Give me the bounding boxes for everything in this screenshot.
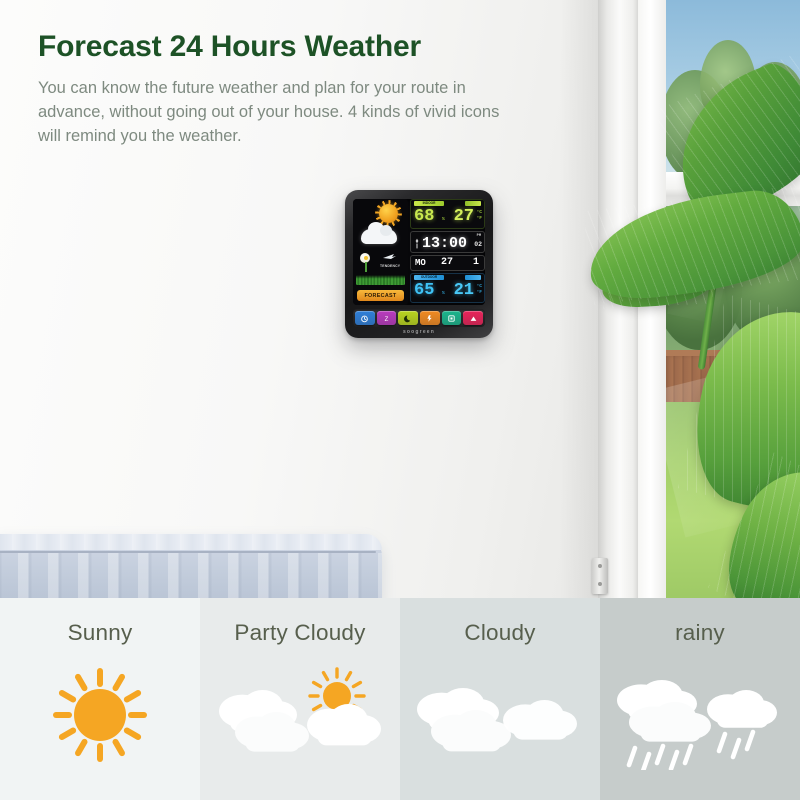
sun-behind-cloud-icon: [215, 660, 385, 770]
outdoor-humidity-unit: %: [442, 292, 445, 297]
date-panel: MO 27 1: [410, 255, 485, 271]
indoor-temperature-unit: °C °F: [476, 210, 482, 221]
power-icon: [469, 314, 478, 323]
room-scene: Forecast 24 Hours Weather You can know t…: [0, 0, 800, 600]
rain-cloud-icon: [615, 660, 785, 770]
alarm-icon: [414, 238, 420, 249]
outdoor-temperature-unit: °C °F: [476, 284, 482, 295]
weather-cell-sunny: Sunny: [0, 598, 200, 800]
sun-icon: [379, 204, 398, 223]
memory-icon: [447, 314, 456, 323]
device-forecast-panel: TENDENCY FORECAST: [353, 199, 408, 305]
date-day: 27: [441, 258, 453, 268]
memory-button[interactable]: [442, 311, 462, 325]
headline-block: Forecast 24 Hours Weather You can know t…: [38, 30, 518, 149]
flower-icon: [360, 253, 373, 271]
indoor-header-accent: [465, 201, 481, 206]
clock-time: 13:00: [422, 236, 467, 251]
indoor-temperature-value: 27: [454, 208, 474, 225]
grass-icon: [356, 275, 405, 285]
outdoor-panel: OUTDOOR 65 % 21 °C °F: [410, 273, 485, 303]
power-button[interactable]: [463, 311, 483, 325]
indoor-humidity-unit: %: [442, 218, 445, 223]
outdoor-humidity-value: 65: [414, 282, 434, 299]
clouds-icon: [415, 660, 585, 770]
cloud-icon: [361, 229, 397, 244]
device-data-panel: INDOOR 68 % 27 °C °F 13:00: [410, 199, 485, 305]
date-weekday: MO: [415, 259, 426, 268]
weather-cell-label: Party Cloudy: [234, 620, 365, 646]
mode-button[interactable]: [398, 311, 418, 325]
clock-panel: 13:00 PM 02: [410, 231, 485, 253]
snooze-icon: Z: [382, 314, 391, 323]
weather-cell-label: Sunny: [68, 620, 133, 646]
outdoor-header: OUTDOOR: [414, 275, 444, 280]
weather-cell-rainy: rainy: [600, 598, 800, 800]
device-button-strip[interactable]: Z: [353, 309, 485, 327]
weather-station-device[interactable]: TENDENCY FORECAST INDOOR 68 % 27 °C °F: [345, 190, 493, 338]
channel-icon: [425, 314, 434, 323]
sun-icon: [15, 660, 185, 770]
indoor-panel: INDOOR 68 % 27 °C °F: [410, 199, 485, 229]
device-brand: soogreen: [353, 329, 485, 335]
weather-cell-art: [15, 660, 185, 770]
weather-icon-strip: SunnyParty CloudyCloudyrainy: [0, 598, 800, 800]
moon-icon: [404, 314, 413, 323]
window-latch-icon: [592, 558, 608, 594]
date-month: 1: [473, 258, 479, 268]
outdoor-header-accent: [465, 275, 481, 280]
forecast-label: FORECAST: [357, 290, 404, 301]
page-description: You can know the future weather and plan…: [38, 76, 503, 149]
weather-cell-art: [615, 660, 785, 770]
indoor-humidity-value: 68: [414, 208, 434, 225]
weather-cell-art: [215, 660, 385, 770]
weather-cell-party-cloudy: Party Cloudy: [200, 598, 400, 800]
tendency-label: TENDENCY: [380, 264, 400, 268]
weather-cell-label: rainy: [675, 620, 725, 646]
device-screen: TENDENCY FORECAST INDOOR 68 % 27 °C °F: [353, 199, 485, 305]
clock-meridiem: PM: [477, 235, 481, 239]
weather-cell-art: [415, 660, 585, 770]
page-title: Forecast 24 Hours Weather: [38, 30, 518, 64]
alarm-button[interactable]: [355, 311, 375, 325]
outdoor-temperature-value: 21: [454, 282, 474, 299]
weather-cell-label: Cloudy: [464, 620, 535, 646]
clock-seconds: 02: [474, 242, 482, 249]
svg-text:Z: Z: [385, 316, 389, 322]
indoor-header: INDOOR: [414, 201, 444, 206]
tendency-arrow-icon: [383, 253, 397, 260]
snooze-button[interactable]: Z: [377, 311, 397, 325]
sofa: [0, 534, 382, 600]
alarm-icon: [360, 314, 369, 323]
channel-button[interactable]: [420, 311, 440, 325]
weather-cell-cloudy: Cloudy: [400, 598, 600, 800]
